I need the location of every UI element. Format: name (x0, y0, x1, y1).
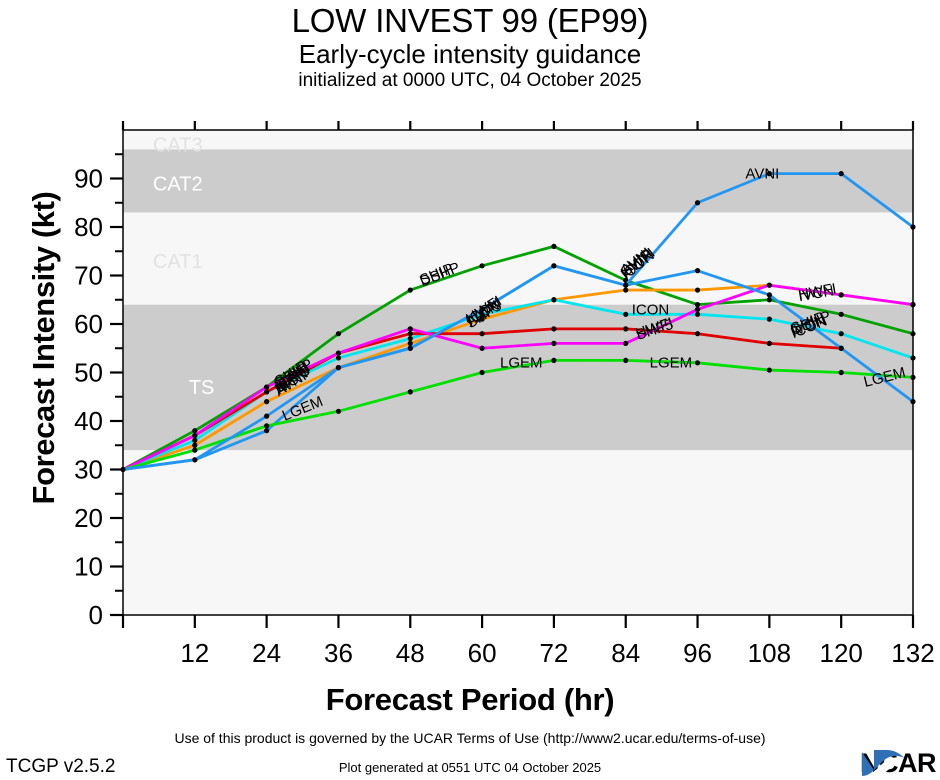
series-point-shf5-60 (479, 331, 484, 336)
series-point-lgem-132 (910, 375, 915, 380)
series-point-ivcn-108 (767, 283, 772, 288)
band-label-ts: TS (189, 377, 215, 399)
y-tick-label-0: 0 (89, 600, 103, 630)
series-point-icon-84 (623, 312, 628, 317)
series-point-ship-48 (408, 287, 413, 292)
series-point-ivcn-84 (623, 341, 628, 346)
series-inline-label-lgem: LGEM (500, 355, 543, 372)
series-point-icon-12 (192, 438, 197, 443)
series-point-hwfi-96 (695, 287, 700, 292)
series-point-shf5-108 (767, 341, 772, 346)
x-tick-label-72: 72 (539, 638, 568, 668)
series-point-ship-120 (839, 312, 844, 317)
intensity-guidance-plot: TSCAT1CAT2CAT301020304050607080901224364… (0, 0, 940, 700)
series-point-shf5-72 (551, 326, 556, 331)
series-point-icon-108 (767, 317, 772, 322)
series-point-avni-24 (264, 428, 269, 433)
chart-page: LOW INVEST 99 (EP99) Early-cycle intensi… (0, 0, 940, 780)
series-point-ship-36 (336, 331, 341, 336)
series-inline-label-avni: AVNI (745, 166, 779, 183)
x-tick-label-96: 96 (683, 638, 712, 668)
series-point-lgem-60 (479, 370, 484, 375)
series-point-hwfi-24 (264, 399, 269, 404)
x-tick-label-132: 132 (891, 638, 934, 668)
series-point-ship-12 (192, 428, 197, 433)
y-tick-label-30: 30 (74, 455, 103, 485)
series-point-shf5-84 (623, 326, 628, 331)
y-tick-label-60: 60 (74, 309, 103, 339)
series-point-dshp-132 (910, 399, 915, 404)
series-point-ship-60 (479, 263, 484, 268)
series-point-dshp-96 (695, 268, 700, 273)
series-point-hwfi-12 (192, 443, 197, 448)
series-point-avni-96 (695, 200, 700, 205)
band-label-cat3: CAT3 (153, 135, 203, 157)
version-text: TCGP v2.5.2 (6, 756, 115, 778)
y-tick-label-50: 50 (74, 358, 103, 388)
series-point-avni-120 (839, 171, 844, 176)
series-point-dshp-24 (264, 414, 269, 419)
series-point-ivcn-36 (336, 351, 341, 356)
ncar-mark-icon (860, 748, 906, 778)
series-point-hwfi-48 (408, 341, 413, 346)
series-point-ship-96 (695, 302, 700, 307)
series-point-lgem-108 (767, 367, 772, 372)
series-point-lgem-24 (264, 423, 269, 428)
series-point-lgem-12 (192, 448, 197, 453)
series-point-lgem-84 (623, 358, 628, 363)
band-cat2 (123, 149, 913, 212)
band-label-cat1: CAT1 (153, 251, 203, 273)
x-tick-label-48: 48 (396, 638, 425, 668)
series-point-hwfi-84 (623, 287, 628, 292)
y-tick-label-80: 80 (74, 212, 103, 242)
band-cat1 (123, 212, 913, 304)
series-point-ivcn-72 (551, 341, 556, 346)
x-tick-label-84: 84 (611, 638, 640, 668)
series-point-dshp-12 (192, 457, 197, 462)
series-point-ship-72 (551, 244, 556, 249)
series-point-ivcn-132 (910, 302, 915, 307)
series-point-avni-132 (910, 224, 915, 229)
series-point-dshp-36 (336, 365, 341, 370)
series-point-icon-132 (910, 355, 915, 360)
series-point-dshp-72 (551, 263, 556, 268)
series-point-lgem-120 (839, 370, 844, 375)
series-point-icon-96 (695, 312, 700, 317)
y-tick-label-70: 70 (74, 261, 103, 291)
series-point-icon-72 (551, 297, 556, 302)
x-tick-label-36: 36 (324, 638, 353, 668)
y-tick-label-20: 20 (74, 503, 103, 533)
series-point-ship-132 (910, 331, 915, 336)
x-tick-label-60: 60 (468, 638, 497, 668)
series-point-shf5-24 (264, 389, 269, 394)
series-point-lgem-48 (408, 389, 413, 394)
x-tick-label-24: 24 (252, 638, 281, 668)
series-point-icon-120 (839, 331, 844, 336)
series-point-lgem-36 (336, 409, 341, 414)
x-tick-label-108: 108 (748, 638, 791, 668)
series-point-shf5-48 (408, 331, 413, 336)
series-point-dshp-48 (408, 346, 413, 351)
series-point-ivcn-96 (695, 307, 700, 312)
plot-generated-text: Plot generated at 0551 UTC 04 October 20… (0, 760, 940, 775)
series-point-ivcn-12 (192, 433, 197, 438)
x-tick-label-12: 12 (180, 638, 209, 668)
series-inline-label-lgem: LGEM (650, 355, 693, 372)
series-point-dshp-120 (839, 346, 844, 351)
series-point-dshp-108 (767, 292, 772, 297)
series-point-lgem-96 (695, 360, 700, 365)
series-point-icon-48 (408, 336, 413, 341)
terms-of-use-text: Use of this product is governed by the U… (0, 730, 940, 746)
series-point-ivcn-120 (839, 292, 844, 297)
series-point-shf5-96 (695, 331, 700, 336)
series-point-icon-36 (336, 355, 341, 360)
series-point-lgem-72 (551, 358, 556, 363)
series-point-ivcn-60 (479, 346, 484, 351)
x-tick-label-120: 120 (819, 638, 862, 668)
series-point-ivcn-24 (264, 384, 269, 389)
band-cat3 (123, 130, 913, 149)
series-point-ivcn-48 (408, 326, 413, 331)
y-tick-label-10: 10 (74, 552, 103, 582)
y-tick-label-90: 90 (74, 164, 103, 194)
band-label-cat2: CAT2 (153, 173, 203, 195)
series-origin-point (120, 467, 125, 472)
ncar-logo: NCAR (860, 748, 936, 778)
y-tick-label-40: 40 (74, 406, 103, 436)
